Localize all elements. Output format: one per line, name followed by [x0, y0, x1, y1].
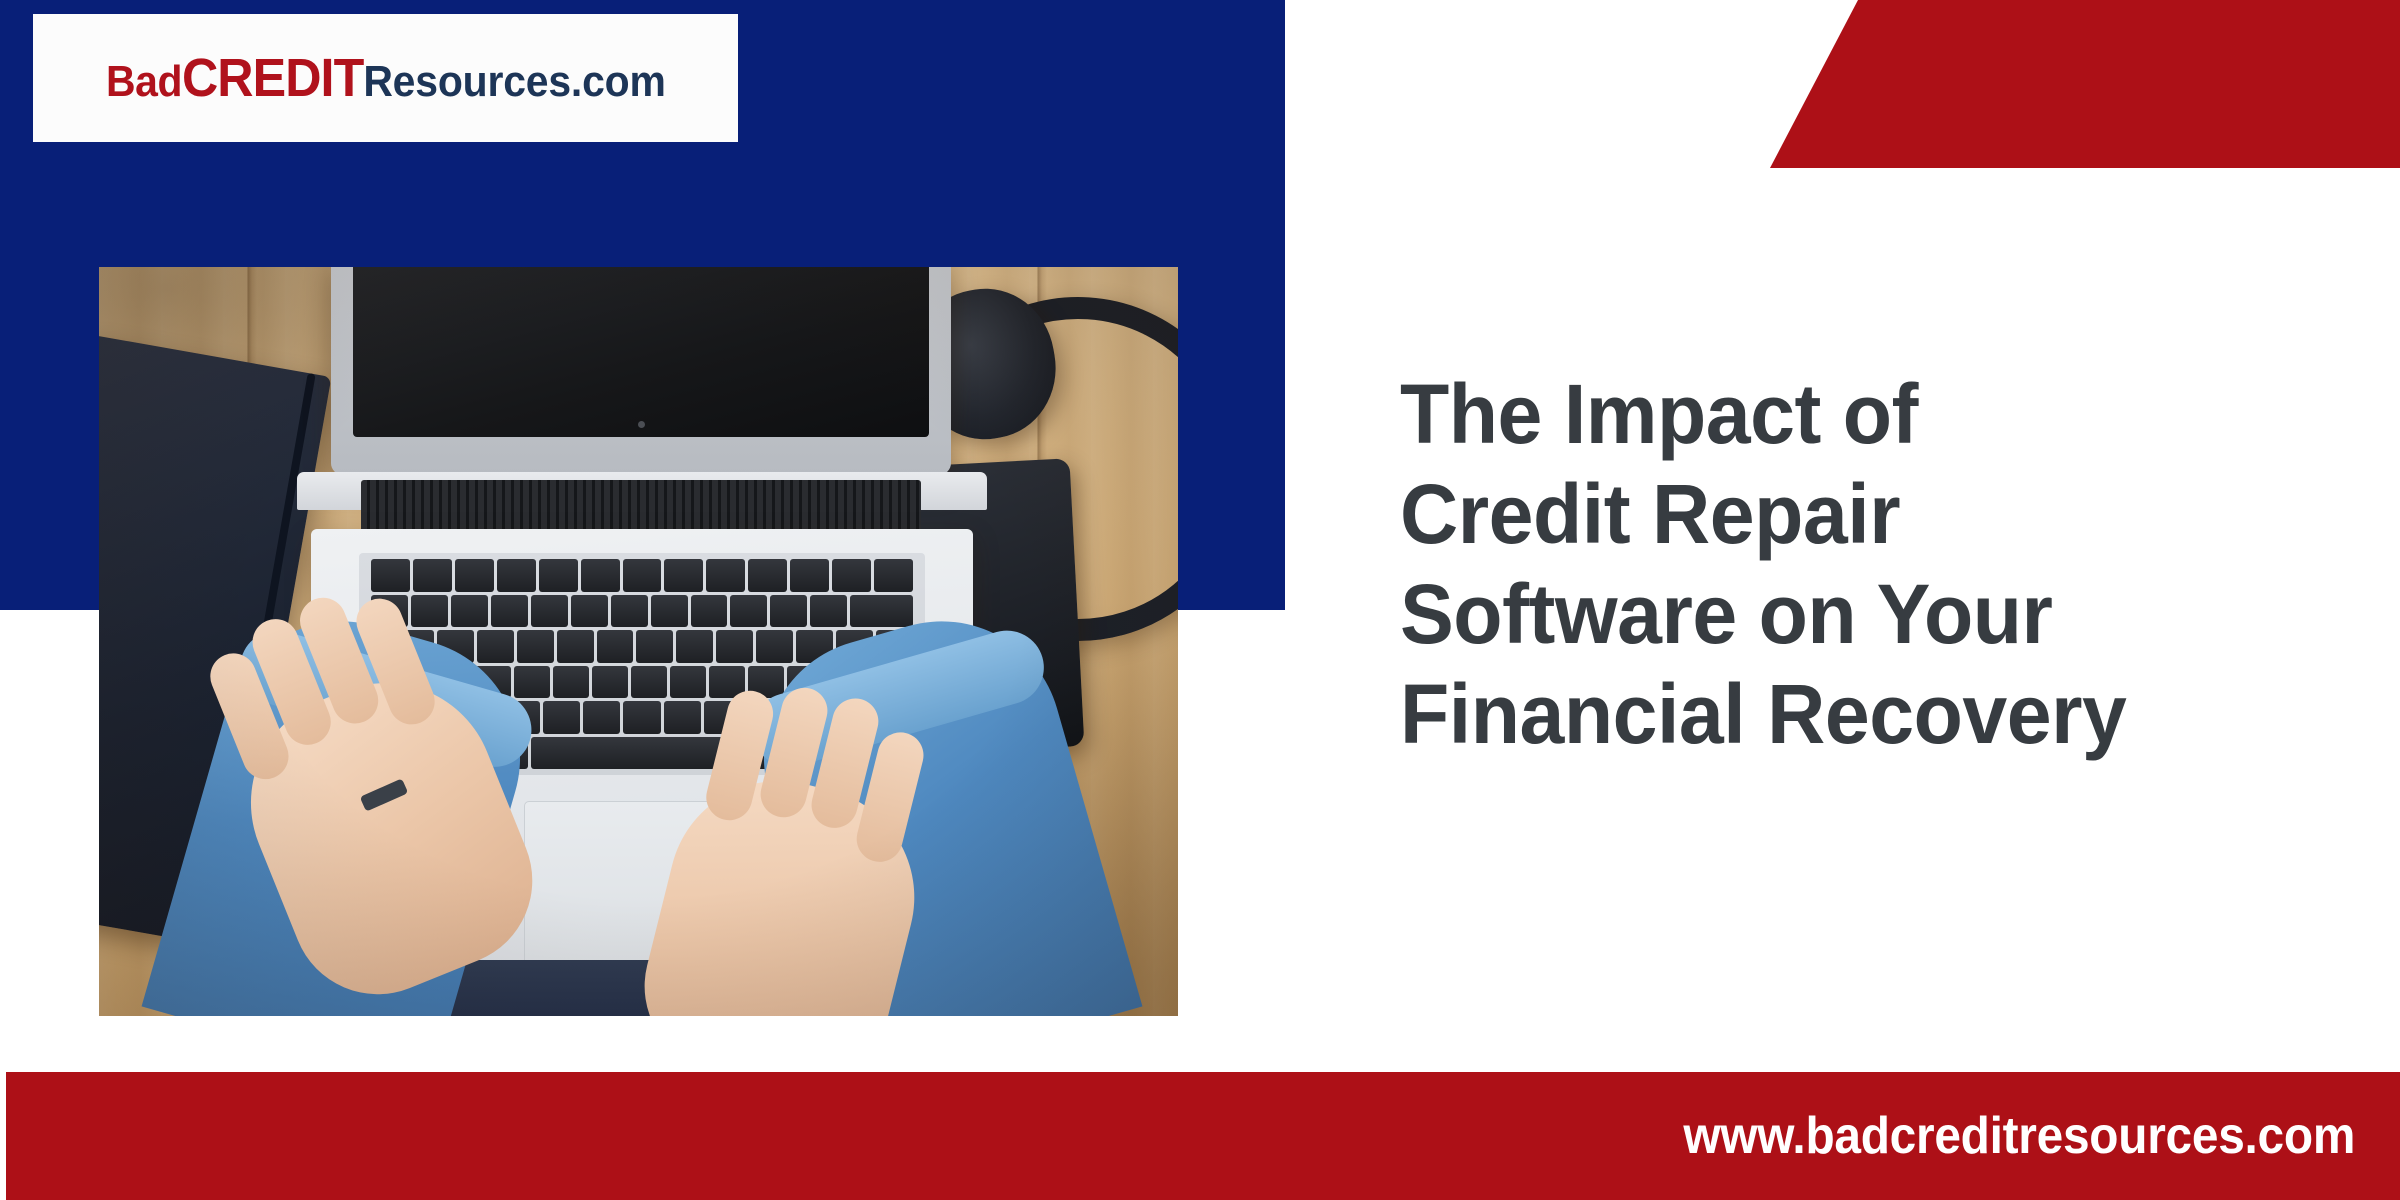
brand-logo[interactable]: BadCREDITResources.com [33, 14, 738, 142]
headline-line-2: Credit Repair [1400, 464, 2341, 564]
hero-image [99, 267, 1178, 1016]
headline-line-4: Financial Recovery [1400, 664, 2341, 764]
headline-line-1: The Impact of [1400, 364, 2341, 464]
headline-line-3: Software on Your [1400, 564, 2341, 664]
logo-wordmark: BadCREDITResources.com [106, 51, 666, 105]
image-vignette [99, 267, 1178, 1016]
website-url[interactable]: www.badcreditresources.com [1683, 1106, 2355, 1166]
logo-text-bad: Bad [106, 57, 182, 106]
hero-image-scene [99, 267, 1178, 1016]
red-angle-accent [1770, 0, 2400, 168]
logo-text-resources: Resources.com [363, 57, 665, 106]
promo-banner: BadCREDITResources.com [0, 0, 2400, 1200]
logo-text-credit: CREDIT [182, 48, 363, 108]
footer-bar: www.badcreditresources.com [6, 1072, 2400, 1200]
page-title: The Impact of Credit Repair Software on … [1400, 364, 2341, 764]
